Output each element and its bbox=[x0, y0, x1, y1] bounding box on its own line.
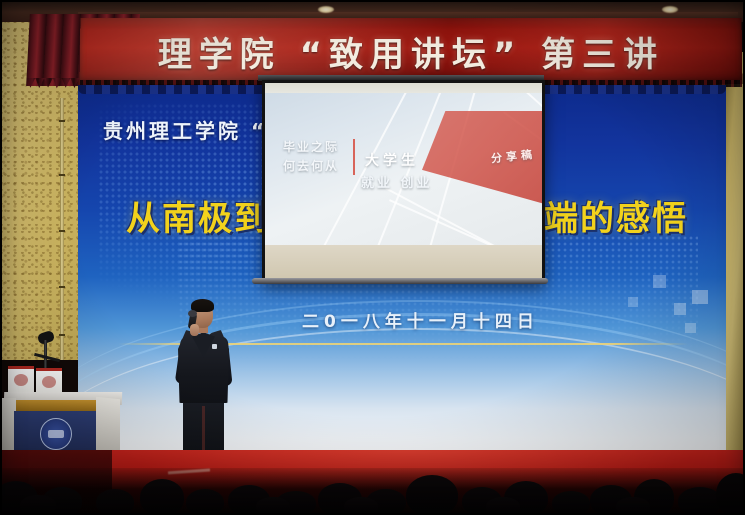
backdrop-square bbox=[674, 303, 686, 315]
screen-bottom-bar bbox=[252, 278, 548, 284]
screen-lower-blank bbox=[265, 245, 542, 281]
slide-text-line3: 大学生 bbox=[365, 150, 419, 170]
speaker-leg-gap bbox=[202, 406, 205, 456]
projection-screen-frame: 毕业之际 何去何从 大学生 就业 创业 分享稿 bbox=[262, 80, 545, 284]
speaker-hand bbox=[190, 324, 199, 336]
projection-screen: 毕业之际 何去何从 大学生 就业 创业 分享稿 bbox=[265, 83, 542, 281]
slide-text-line4: 就业 创业 bbox=[361, 172, 433, 191]
slide-line bbox=[385, 187, 518, 245]
ceiling-light-icon bbox=[662, 6, 678, 13]
presentation-slide: 毕业之际 何去何从 大学生 就业 创业 分享稿 bbox=[265, 93, 542, 245]
audience-head bbox=[344, 497, 378, 515]
ceiling-light-icon bbox=[318, 6, 334, 13]
microphone-head-icon bbox=[188, 310, 197, 317]
slide-line bbox=[389, 199, 527, 245]
university-seal-icon bbox=[40, 418, 72, 450]
audience-head bbox=[140, 479, 184, 515]
backdrop-title-right: 端的感悟 bbox=[544, 191, 688, 240]
audience-head bbox=[716, 473, 745, 515]
wall-rail bbox=[60, 98, 64, 360]
audience-head bbox=[256, 497, 290, 515]
backdrop-square bbox=[685, 323, 696, 333]
slide-divider bbox=[353, 139, 355, 175]
backdrop-square bbox=[653, 275, 666, 288]
backdrop-square bbox=[692, 290, 708, 304]
table-tent-card bbox=[8, 366, 34, 393]
audience-head bbox=[186, 489, 224, 515]
audience-head bbox=[20, 495, 56, 515]
photo-scene: 理学院 “致用讲坛” 第三讲 贵州理工学院 “新 从南极到 端的感悟 二0一八年… bbox=[0, 0, 745, 515]
audience-head bbox=[96, 489, 134, 515]
table-tent-card bbox=[36, 368, 62, 395]
audience-head bbox=[406, 475, 458, 515]
audience-head bbox=[616, 497, 650, 515]
slide-text-line1: 毕业之际 bbox=[283, 138, 339, 155]
backdrop-square bbox=[628, 297, 638, 307]
backdrop-date: 二0一八年十一月十四日 bbox=[302, 307, 539, 332]
speaker-lapel-badge bbox=[212, 344, 217, 349]
audience-head bbox=[552, 491, 590, 515]
backdrop-title-left: 从南极到 bbox=[126, 191, 270, 240]
audience-silhouettes bbox=[0, 468, 745, 515]
slide-text-line2: 何去何从 bbox=[283, 157, 339, 174]
audience-head bbox=[486, 497, 520, 515]
